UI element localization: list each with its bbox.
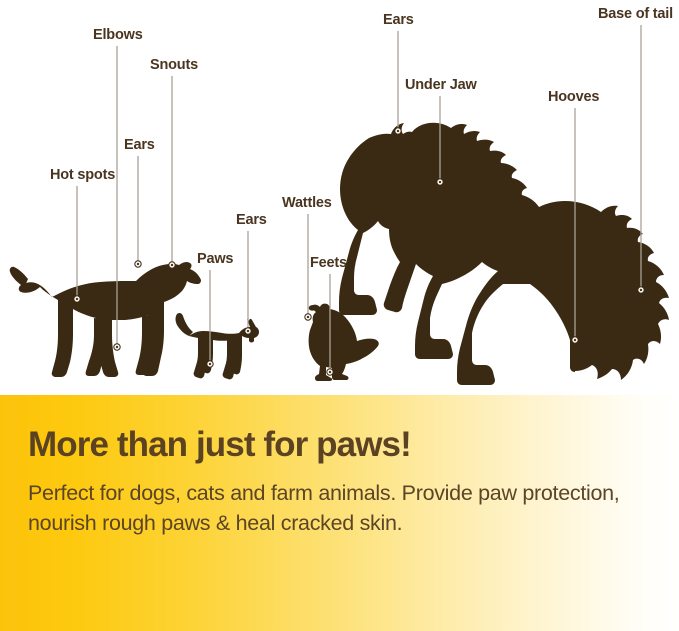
callout-label-feets: Feets	[310, 256, 347, 271]
callout-label-elbows: Elbows	[93, 28, 143, 43]
callout-label-ears-horse: Ears	[383, 13, 414, 28]
callout-label-base-of-tail: Base of tail	[598, 7, 673, 22]
callout-label-paws: Paws	[197, 252, 233, 267]
callout-label-wattles: Wattles	[282, 196, 332, 211]
callout-label-hooves: Hooves	[548, 90, 599, 105]
callout-label-ears-dog: Ears	[124, 138, 155, 153]
infographic-page: Hot spotsElbowsEarsSnoutsPawsEarsWattles…	[0, 0, 679, 631]
callout-label-under-jaw: Under Jaw	[405, 78, 477, 93]
banner-body-text: Perfect for dogs, cats and farm animals.…	[28, 478, 651, 539]
promo-banner: More than just for paws! Perfect for dog…	[0, 395, 679, 631]
banner-headline: More than just for paws!	[28, 427, 651, 464]
callout-labels-layer: Hot spotsElbowsEarsSnoutsPawsEarsWattles…	[0, 0, 679, 396]
animal-illustration-panel: Hot spotsElbowsEarsSnoutsPawsEarsWattles…	[0, 0, 679, 396]
callout-label-snouts: Snouts	[150, 58, 198, 73]
callout-label-ears-cat: Ears	[236, 213, 267, 228]
callout-label-hot-spots: Hot spots	[50, 168, 115, 183]
